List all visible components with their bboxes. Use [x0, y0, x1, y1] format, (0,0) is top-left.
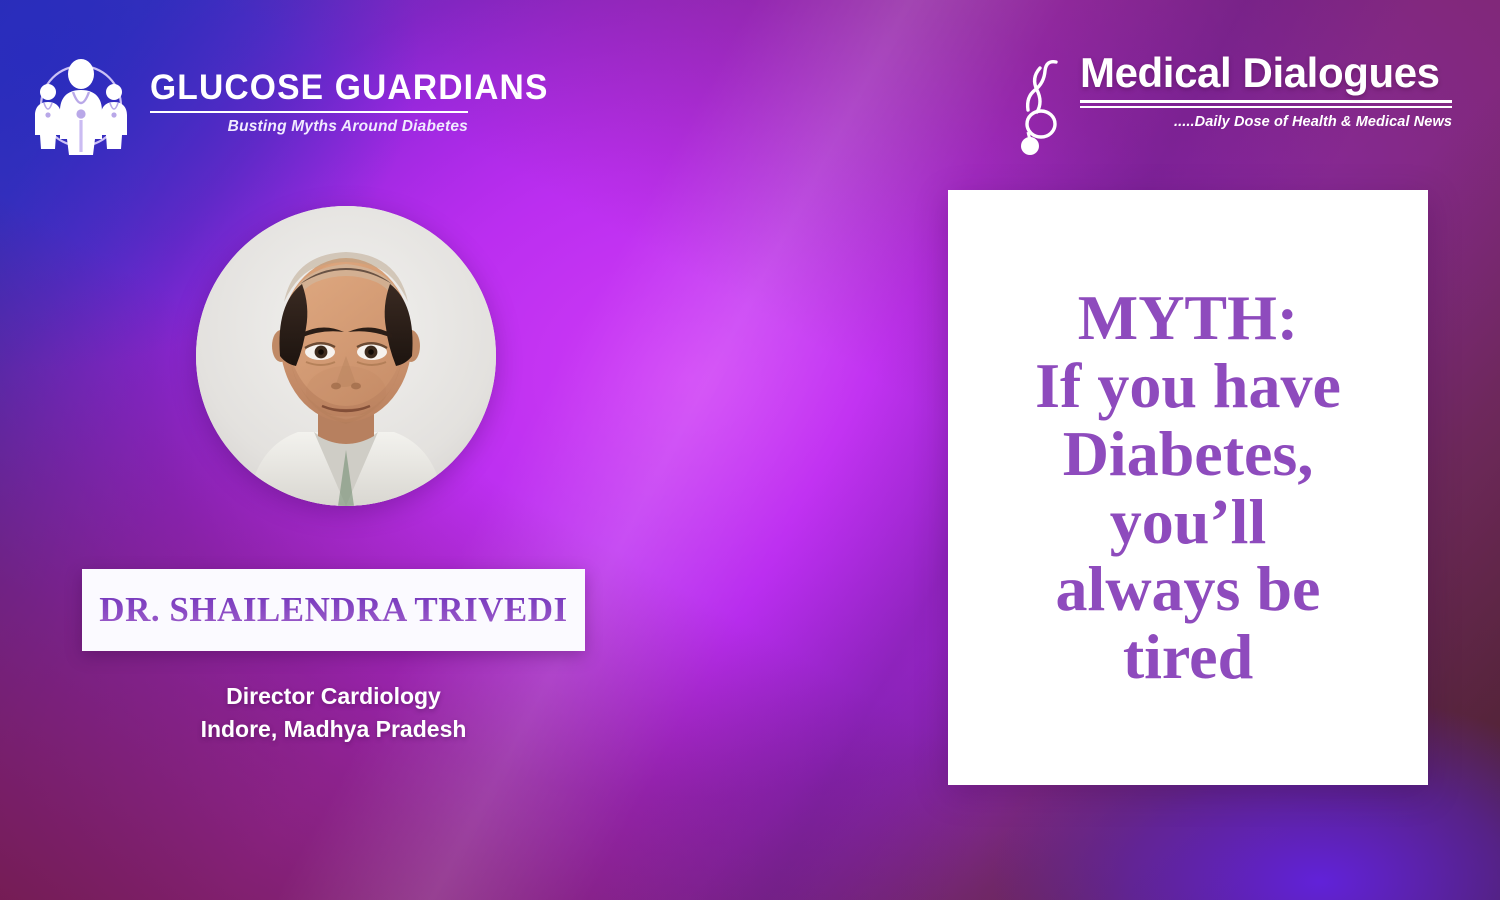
designation-line-2: Indore, Madhya Pradesh: [82, 713, 585, 746]
speaker-name-plate: DR. SHAILENDRA TRIVEDI: [82, 569, 585, 651]
myth-line: always be: [962, 555, 1414, 623]
myth-line: MYTH:: [962, 284, 1414, 352]
myth-line: If you have: [962, 352, 1414, 420]
poster-canvas: GLUCOSE GUARDIANS Busting Myths Around D…: [0, 0, 1500, 900]
divider-line-bottom: [1080, 106, 1452, 108]
glucose-guardians-wordmark: GLUCOSE GUARDIANS Busting Myths Around D…: [150, 68, 565, 136]
myth-card: MYTH: If you have Diabetes, you’ll alway…: [948, 190, 1428, 785]
avatar: [196, 206, 496, 506]
myth-line: Diabetes,: [962, 420, 1414, 488]
medical-dialogues-divider: [1080, 100, 1452, 108]
myth-line: you’ll: [962, 488, 1414, 556]
glucose-guardians-underline: [150, 111, 468, 113]
stethoscope-icon: [1016, 54, 1074, 158]
medical-dialogues-logo[interactable]: Medical Dialogues .....Daily Dose of Hea…: [1016, 52, 1452, 158]
medical-dialogues-wordmark: Medical Dialogues .....Daily Dose of Hea…: [1080, 52, 1452, 130]
glucose-guardians-title: GLUCOSE GUARDIANS: [150, 70, 549, 105]
medical-dialogues-tagline: .....Daily Dose of Health & Medical News: [1080, 114, 1452, 130]
speaker-name: DR. SHAILENDRA TRIVEDI: [99, 590, 567, 630]
myth-line: tired: [962, 623, 1414, 691]
myth-text: MYTH: If you have Diabetes, you’ll alway…: [948, 284, 1428, 691]
medical-dialogues-title: Medical Dialogues: [1080, 52, 1452, 95]
divider-line-top: [1080, 100, 1452, 103]
portrait-photo: [196, 206, 496, 506]
speaker-designation: Director Cardiology Indore, Madhya Prade…: [82, 680, 585, 747]
designation-line-1: Director Cardiology: [82, 680, 585, 713]
three-doctors-circle-icon: [22, 48, 140, 156]
glucose-guardians-logo[interactable]: GLUCOSE GUARDIANS Busting Myths Around D…: [22, 48, 565, 156]
glucose-guardians-tagline: Busting Myths Around Diabetes: [150, 118, 468, 136]
